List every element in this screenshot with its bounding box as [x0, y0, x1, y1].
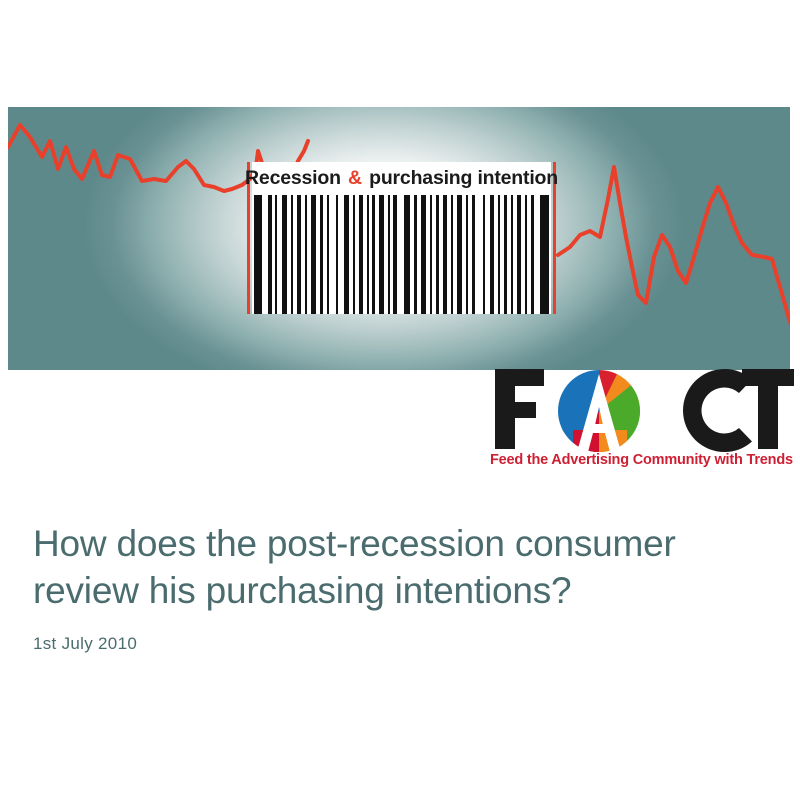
page-title: How does the post-recession consumer rev…: [33, 520, 773, 614]
barcode-bars: [252, 195, 551, 314]
barcode-label-suffix: purchasing intention: [369, 167, 558, 189]
trend-line-right: [558, 167, 790, 347]
barcode-label: Recession & purchasing intention: [252, 162, 551, 195]
letter-f-icon: [495, 369, 544, 449]
fact-logo: Feed the Advertising Community with Tren…: [489, 366, 795, 476]
barcode-label-prefix: Recession: [245, 167, 341, 189]
letter-a-emblem-icon: [558, 370, 640, 452]
slide-date: 1st July 2010: [33, 634, 773, 654]
slide-root: Recession & purchasing intention: [0, 0, 800, 800]
barcode-label-ampersand: &: [341, 167, 369, 189]
barcode-graphic: Recession & purchasing intention: [247, 162, 556, 314]
fact-wordmark: [489, 366, 795, 452]
title-block: How does the post-recession consumer rev…: [33, 520, 773, 654]
letter-t-icon: [742, 369, 794, 449]
recession-banner-image: Recession & purchasing intention: [8, 107, 790, 370]
fact-tagline: Feed the Advertising Community with Tren…: [490, 452, 796, 468]
